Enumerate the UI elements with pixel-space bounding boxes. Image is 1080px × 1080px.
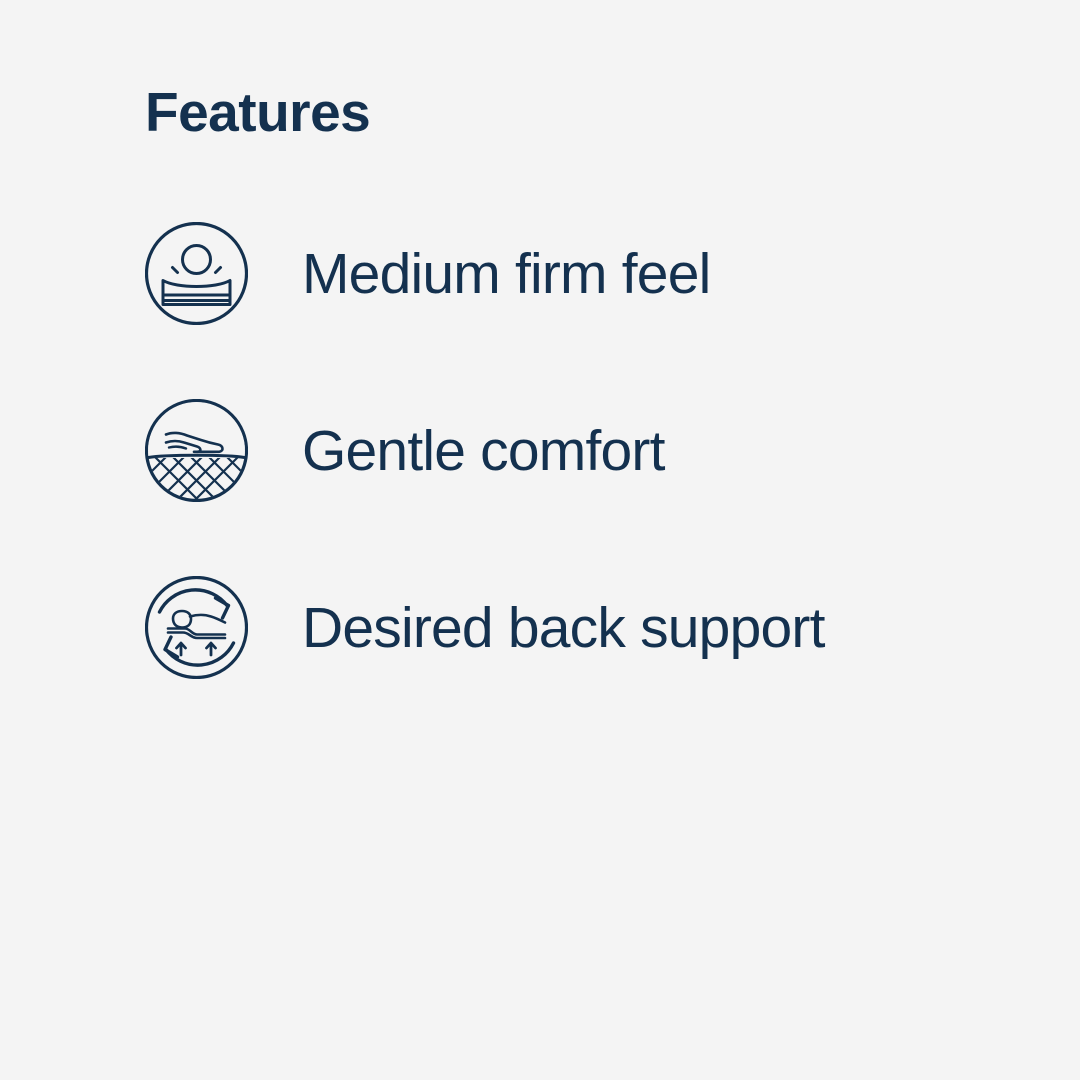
features-panel: Features Medium firm feel [0, 0, 1080, 1080]
feature-label: Medium firm feel [302, 241, 710, 307]
list-item: Desired back support [0, 576, 1080, 679]
hand-on-quilted-fabric-icon [145, 399, 248, 502]
mattress-firmness-icon [145, 222, 248, 325]
feature-list: Medium firm feel [0, 222, 1080, 753]
list-item: Gentle comfort [0, 399, 1080, 502]
feature-label: Desired back support [302, 595, 825, 661]
list-item: Medium firm feel [0, 222, 1080, 325]
sleeper-back-support-rotation-icon [145, 576, 248, 679]
feature-label: Gentle comfort [302, 418, 665, 484]
page-title: Features [145, 79, 370, 145]
